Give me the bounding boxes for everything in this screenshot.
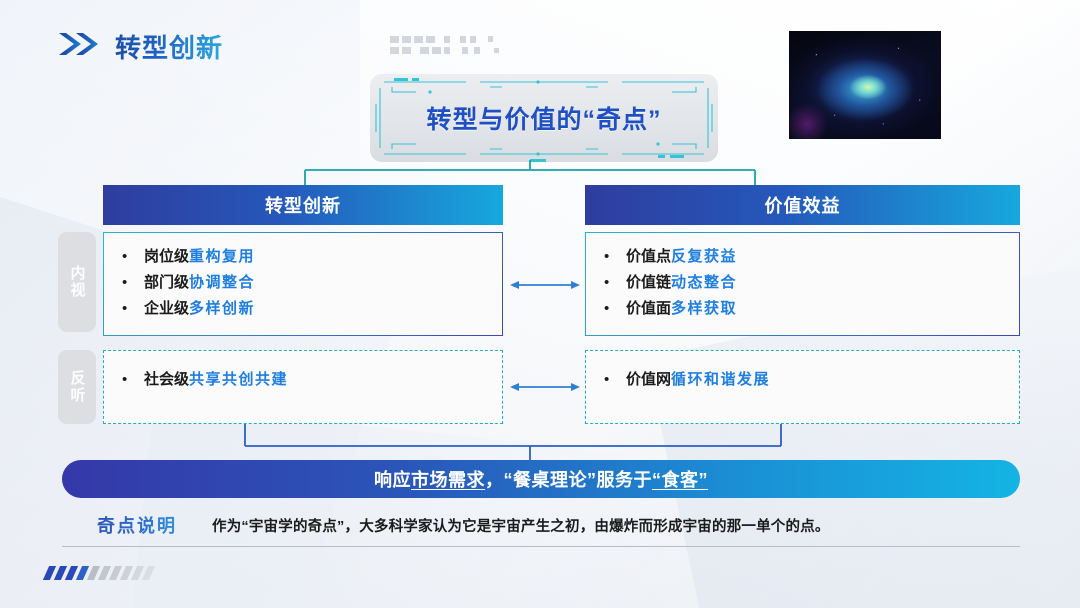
- decorative-dot-grid: [390, 36, 498, 56]
- column-heading-left: 转型创新: [103, 185, 503, 225]
- bullet-dot-icon: •: [122, 244, 144, 270]
- bullet-lead: 企业级: [144, 300, 189, 317]
- bullet-lead: 岗位级: [144, 248, 189, 265]
- banner-seg2: 市场需求: [411, 466, 485, 492]
- bullet-lead: 价值面: [626, 300, 671, 317]
- banner-seg1: 响应: [374, 466, 411, 492]
- panel-right-outer: • 价值网循环和谐发展: [585, 350, 1020, 424]
- bidirectional-arrow-outer-icon: [508, 380, 582, 394]
- banner-seg3: ，“餐桌理论”服务于: [485, 466, 652, 492]
- hero-title: 转型与价值的“奇点”: [370, 74, 718, 162]
- bullet-lead: 部门级: [144, 274, 189, 291]
- bullet-lead: 价值网: [626, 371, 671, 388]
- panel-left-outer: • 社会级共享共创共建: [103, 350, 503, 424]
- bullet-list: • 价值网循环和谐发展: [586, 351, 1019, 393]
- bullet-lead: 价值链: [626, 274, 671, 291]
- bullet-dot-icon: •: [122, 367, 144, 393]
- list-item: • 岗位级重构复用: [122, 244, 502, 270]
- footnote-label: 奇点说明: [62, 512, 212, 538]
- bullet-list: • 岗位级重构复用 • 部门级协调整合 • 企业级多样创新: [104, 233, 502, 322]
- list-item: • 社会级共享共创共建: [122, 367, 502, 393]
- decorative-slashes: [46, 566, 166, 580]
- footnote-divider: [62, 546, 1020, 547]
- list-item: • 价值面多样获取: [604, 296, 1019, 322]
- list-item: • 价值链动态整合: [604, 270, 1019, 296]
- page-header: 转型创新: [57, 28, 223, 65]
- bullet-highlight: 循环和谐发展: [671, 371, 770, 388]
- side-tab-outer: 反听: [58, 350, 96, 424]
- background-facet: [129, 403, 671, 608]
- bullet-dot-icon: •: [604, 367, 626, 393]
- list-item: • 企业级多样创新: [122, 296, 502, 322]
- bidirectional-arrow-inner-icon: [508, 278, 582, 292]
- columns-to-banner-connector: [225, 424, 835, 462]
- bullet-lead: 社会级: [144, 371, 189, 388]
- footnote-text: 作为“宇宙学的奇点”，大多科学家认为它是宇宙产生之初，由爆炸而形成宇宙的那一单个…: [212, 515, 1020, 536]
- bullet-highlight: 重构复用: [189, 248, 255, 265]
- bullet-highlight: 共享共创共建: [189, 371, 288, 388]
- bullet-lead: 价值点: [626, 248, 671, 265]
- bullet-highlight: 反复获益: [671, 248, 737, 265]
- panel-left-inner: • 岗位级重构复用 • 部门级协调整合 • 企业级多样创新: [103, 232, 503, 336]
- bullet-dot-icon: •: [122, 270, 144, 296]
- bullet-highlight: 多样获取: [671, 300, 737, 317]
- hero-title-plate: 转型与价值的“奇点”: [370, 74, 718, 162]
- hero-to-columns-connector: [225, 160, 835, 188]
- page-title: 转型创新: [115, 28, 223, 65]
- column-heading-right: 价值效益: [585, 185, 1020, 225]
- bullet-list: • 社会级共享共创共建: [104, 351, 502, 393]
- bullet-highlight: 多样创新: [189, 300, 255, 317]
- banner-seg4: “食客”: [652, 466, 708, 492]
- bullet-dot-icon: •: [604, 244, 626, 270]
- bullet-highlight: 动态整合: [671, 274, 737, 291]
- galaxy-image: [789, 31, 941, 139]
- list-item: • 价值点反复获益: [604, 244, 1019, 270]
- bullet-dot-icon: •: [604, 270, 626, 296]
- bullet-dot-icon: •: [122, 296, 144, 322]
- bullet-dot-icon: •: [604, 296, 626, 322]
- bullet-list: • 价值点反复获益 • 价值链动态整合 • 价值面多样获取: [586, 233, 1019, 322]
- double-chevron-right-icon: [57, 31, 101, 62]
- footnote: 奇点说明 作为“宇宙学的奇点”，大多科学家认为它是宇宙产生之初，由爆炸而形成宇宙…: [62, 508, 1020, 542]
- summary-banner: 响应市场需求，“餐桌理论”服务于“食客”: [62, 460, 1020, 498]
- panel-right-inner: • 价值点反复获益 • 价值链动态整合 • 价值面多样获取: [585, 232, 1020, 336]
- list-item: • 价值网循环和谐发展: [604, 367, 1019, 393]
- side-tab-inner: 内视: [58, 232, 96, 332]
- bullet-highlight: 协调整合: [189, 274, 255, 291]
- list-item: • 部门级协调整合: [122, 270, 502, 296]
